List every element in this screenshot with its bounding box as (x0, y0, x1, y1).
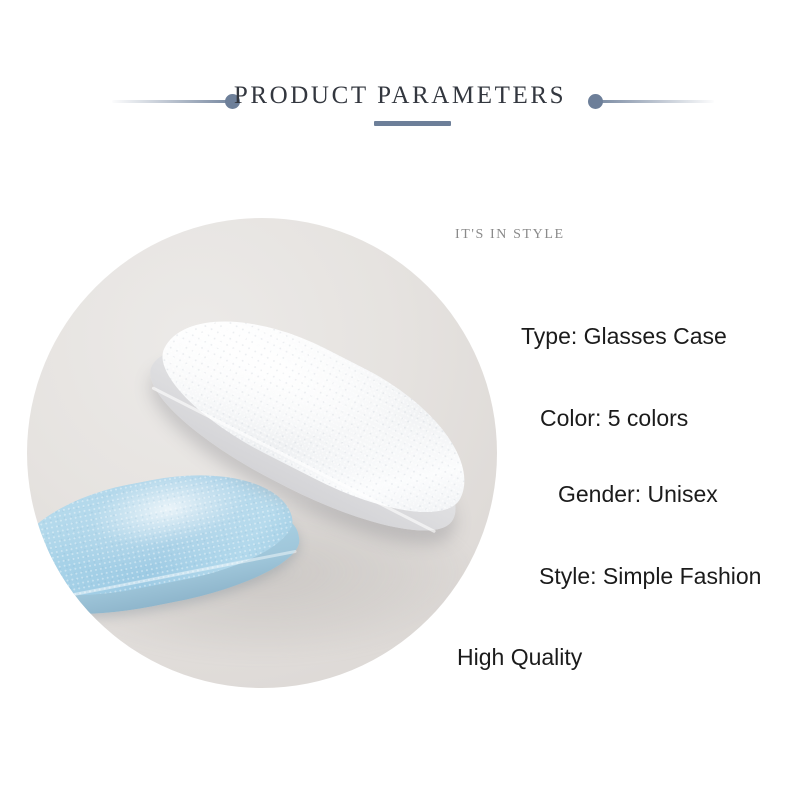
spec-type: Type: Glasses Case (521, 323, 727, 350)
spec-style: Style: Simple Fashion (539, 563, 761, 590)
page-header: PRODUCT PARAMETERS (0, 64, 800, 144)
spec-gender: Gender: Unisex (558, 481, 718, 508)
header-right-dot-icon (588, 94, 603, 109)
header-title-underline (374, 121, 451, 126)
header-right-rule (592, 100, 714, 103)
tagline: IT'S IN STYLE (455, 227, 565, 243)
page-title: PRODUCT PARAMETERS (0, 82, 800, 110)
product-photo (27, 218, 497, 688)
spec-color: Color: 5 colors (540, 405, 688, 432)
spec-high-quality: High Quality (457, 644, 582, 671)
